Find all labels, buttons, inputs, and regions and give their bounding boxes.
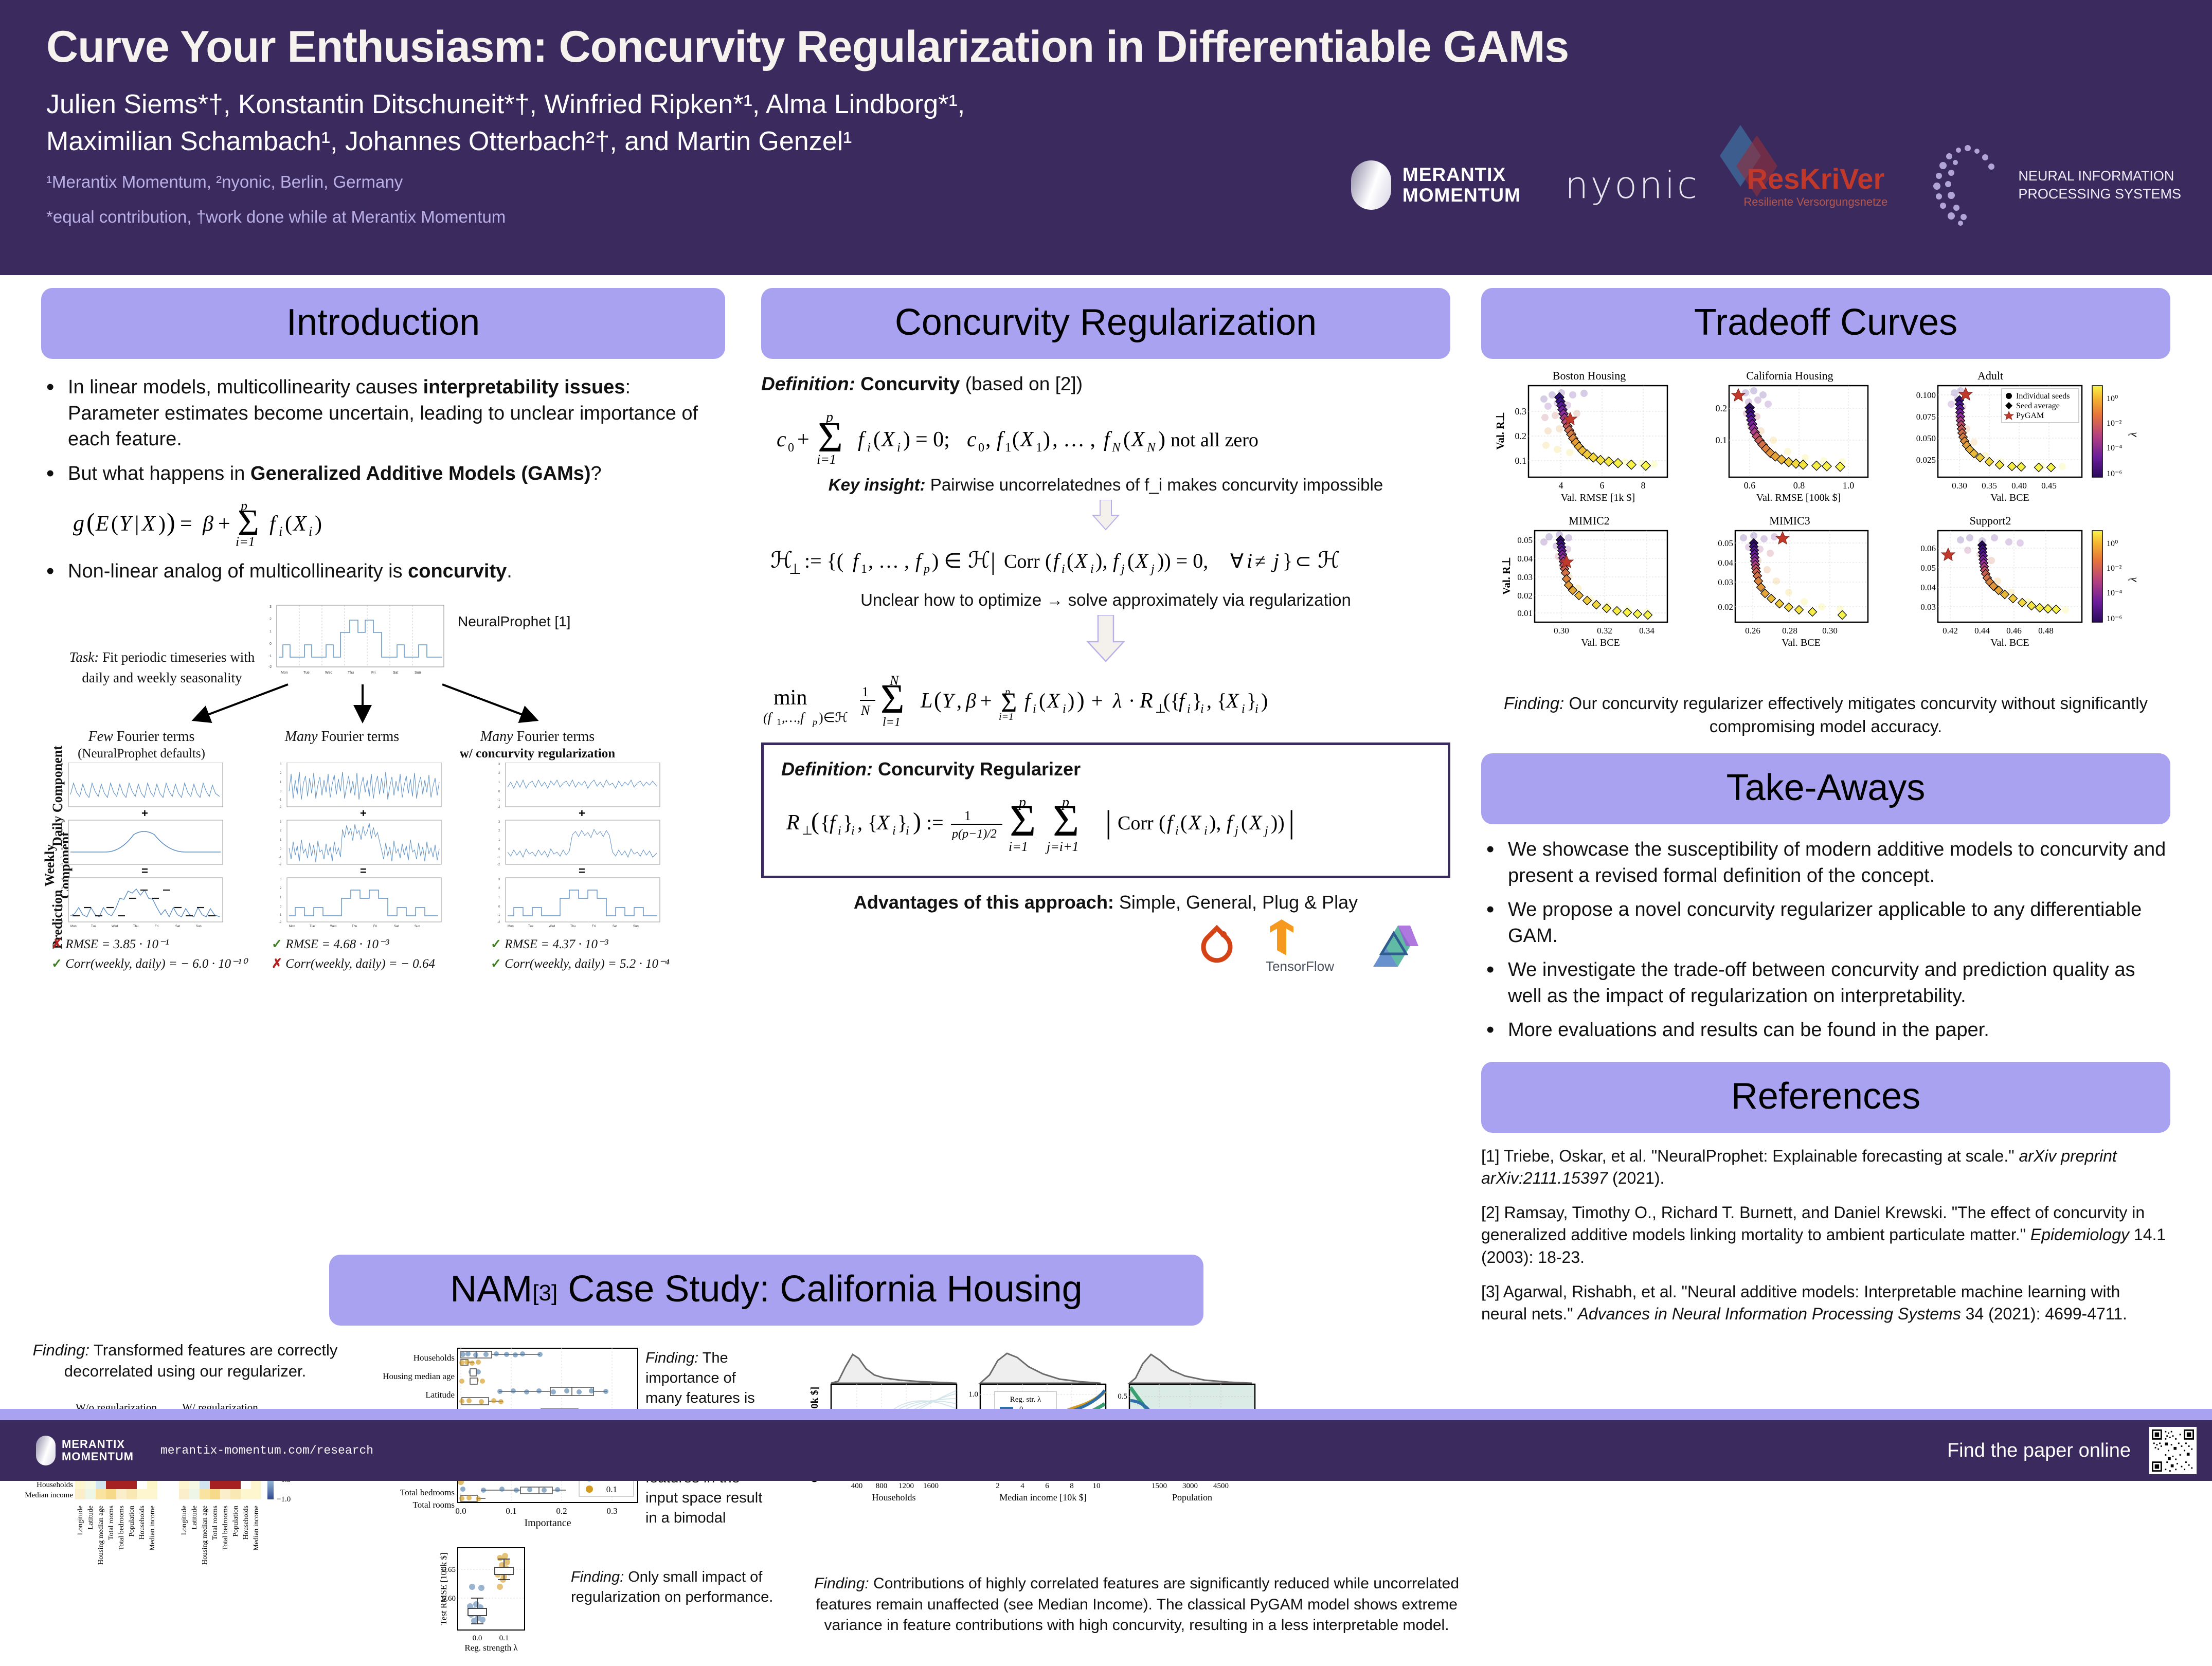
svg-text:X: X <box>880 428 896 451</box>
svg-text:1: 1 <box>862 684 869 699</box>
svg-text:3: 3 <box>61 763 63 766</box>
check-icon: ✓ <box>491 937 501 951</box>
svg-text:Housing median age: Housing median age <box>201 1506 209 1565</box>
chart-mimic3: MIMIC3 <box>1718 514 1868 648</box>
svg-text:800: 800 <box>876 1482 888 1490</box>
svg-text:X: X <box>1046 689 1060 712</box>
svg-text:=: = <box>579 864 585 877</box>
nam-figures-svg: Finding: Transformed features are correc… <box>21 1337 1471 1666</box>
svg-text:3: 3 <box>61 878 63 881</box>
svg-text:(: ( <box>86 508 95 536</box>
svg-text:i: i <box>1175 824 1179 838</box>
footer-url-link[interactable]: merantix-momentum.com/research <box>160 1444 373 1457</box>
authors-line2-text: Maximilian Schambach¹, Johannes Otterbac… <box>46 126 852 156</box>
svg-text:0.01: 0.01 <box>1517 608 1533 618</box>
svg-text:, … ,: , … , <box>1052 428 1095 451</box>
nyonic-logo: nyonic <box>1565 164 1700 207</box>
svg-text:2: 2 <box>61 887 63 890</box>
svg-text:0.5: 0.5 <box>1118 1392 1127 1401</box>
check-icon: ✓ <box>491 957 501 971</box>
svg-text:Sat: Sat <box>394 925 399 928</box>
svg-text:0.28: 0.28 <box>1782 626 1797 636</box>
svg-text:3: 3 <box>280 878 282 881</box>
svg-text:ℋ: ℋ <box>1318 548 1340 573</box>
svg-text:i: i <box>892 824 896 838</box>
svg-text:f: f <box>997 428 1005 451</box>
svg-text:(: ( <box>1241 811 1248 834</box>
svg-text:Wed: Wed <box>112 925 118 928</box>
svg-text:Val. BCE: Val. BCE <box>1990 637 2029 648</box>
svg-text:i: i <box>309 524 312 539</box>
svg-text:p: p <box>825 409 833 425</box>
svg-text:+: + <box>218 512 230 536</box>
svg-text:Sat: Sat <box>175 925 180 928</box>
svg-text:6: 6 <box>1600 480 1605 491</box>
svg-text:0: 0 <box>61 790 63 793</box>
unclear-optimize-note: Unclear how to optimize → solve approxim… <box>761 590 1450 610</box>
svg-text::=: := <box>926 811 944 834</box>
svg-text:-1: -1 <box>497 856 500 859</box>
svg-text:0.34: 0.34 <box>1639 626 1654 636</box>
svg-text:): ) <box>913 808 921 835</box>
svg-text:⊂: ⊂ <box>1295 551 1311 572</box>
flow-arrow-down-2 <box>1083 615 1129 662</box>
svg-text:i: i <box>1033 702 1036 716</box>
svg-text:Corr: Corr <box>1118 812 1154 834</box>
objective-equation: min (f 1 ,…,f p )∈ℋ 1 N Σ N l=1 L ( Y , <box>761 672 1450 732</box>
svg-text:1: 1 <box>498 839 500 842</box>
svg-text:i=1: i=1 <box>1009 839 1028 854</box>
svg-text:f: f <box>1167 811 1175 834</box>
svg-text:-2: -2 <box>60 921 63 924</box>
section-title-nam: NAM[3] Case Study: California Housing <box>329 1255 1203 1326</box>
svg-text:(: ( <box>1067 549 1073 572</box>
neurips-line2: PROCESSING SYSTEMS <box>2018 185 2181 203</box>
poster-body: Introduction In linear models, multicoll… <box>0 288 2212 1399</box>
svg-text:f: f <box>830 811 838 834</box>
svg-text:California Housing: California Housing <box>1746 370 1833 382</box>
hperp-equation: ℋ ⊥ := {( f 1 , … , f p ) ∈ ℋ | Corr ( f… <box>761 540 1450 581</box>
svg-text:0.100: 0.100 <box>1916 390 1936 400</box>
svg-text:-1: -1 <box>497 914 500 917</box>
bullet-pre: But what happens in <box>68 463 250 484</box>
nam-case-study-body: Finding: Transformed features are correc… <box>21 1337 1471 1666</box>
svg-text:X: X <box>876 811 890 834</box>
svg-text:1: 1 <box>280 839 282 842</box>
svg-text:0: 0 <box>61 848 63 851</box>
svg-text:2: 2 <box>996 1482 1000 1490</box>
neurips-dots-icon <box>1932 144 2009 226</box>
svg-text:0.30: 0.30 <box>1952 481 1967 491</box>
column-results: Tradeoff Curves <box>1481 288 2170 1325</box>
svg-text:): ) <box>1077 687 1085 713</box>
svg-text:Sun: Sun <box>633 925 639 928</box>
svg-text:0.02: 0.02 <box>1517 591 1533 601</box>
svg-text::= {(: := {( <box>804 549 843 572</box>
gam-equation: g ( E ( Y | X ) ) = β + Σ <box>68 494 725 550</box>
svg-text:0.1: 0.1 <box>499 1634 509 1642</box>
svg-text:β: β <box>965 689 976 712</box>
svg-text:i=1: i=1 <box>236 534 255 549</box>
merantix-mark-icon <box>1351 160 1391 210</box>
svg-text:8: 8 <box>1641 480 1646 491</box>
merantix-momentum-logo: MERANTIX MOMENTUM <box>1351 160 1521 210</box>
svg-text:0.2: 0.2 <box>556 1506 567 1516</box>
svg-text:Val. RMSE [100k $]: Val. RMSE [100k $] <box>1756 492 1841 503</box>
svg-text:N: N <box>889 673 900 688</box>
tensorflow-logo-group: TensorFlow <box>1266 918 1334 974</box>
svg-text:i: i <box>1063 702 1066 716</box>
svg-text:+: + <box>1091 689 1103 712</box>
svg-text:Sun: Sun <box>196 925 202 928</box>
svg-text:⊥: ⊥ <box>789 562 801 577</box>
svg-text:2: 2 <box>269 618 272 621</box>
nam-title-ref: [3] <box>532 1280 558 1306</box>
nam-case-study-header: NAM[3] Case Study: California Housing <box>329 1255 1203 1326</box>
svg-text:0.050: 0.050 <box>1916 433 1936 443</box>
column-introduction: Introduction In linear models, multicoll… <box>41 288 725 963</box>
poster-header: Curve Your Enthusiasm: Concurvity Regula… <box>0 0 2212 275</box>
jax-icon <box>1363 923 1419 974</box>
svg-text:1: 1 <box>1036 441 1042 455</box>
svg-text:0.8: 0.8 <box>1793 480 1805 491</box>
regularizer-definition-box: Definition: Concurvity Regularizer R ⊥ (… <box>761 743 1450 878</box>
svg-text:0: 0 <box>498 848 500 851</box>
svg-text:0.04: 0.04 <box>1718 558 1733 568</box>
svg-text:PyGAM: PyGAM <box>2016 411 2044 420</box>
svg-text:10⁻⁶: 10⁻⁶ <box>2107 614 2122 623</box>
svg-text:Households: Households <box>242 1506 250 1540</box>
svg-text:3: 3 <box>280 763 282 766</box>
regularizer-equation: R ⊥ ( { f i } i , { X i } i ) := <box>781 785 1430 862</box>
svg-text:): ) <box>158 512 166 536</box>
svg-text:1500: 1500 <box>1152 1482 1167 1490</box>
section-title-references: References <box>1481 1062 2170 1133</box>
svg-text:Population: Population <box>128 1506 136 1537</box>
svg-text:N: N <box>860 703 871 718</box>
bullet-bold: concurvity <box>408 560 507 582</box>
svg-text:1200: 1200 <box>898 1482 914 1490</box>
svg-text:0.2: 0.2 <box>1515 431 1527 441</box>
section-title-tradeoff: Tradeoff Curves <box>1481 288 2170 359</box>
cross-icon: ✗ <box>272 957 282 971</box>
svg-text:-1: -1 <box>279 799 282 802</box>
tradeoff-chart-grid: Boston Housing <box>1481 370 2170 689</box>
svg-text:Reg. str. λ: Reg. str. λ <box>1010 1396 1041 1404</box>
svg-text:-1: -1 <box>268 655 272 658</box>
footer-logo-line2: MOMENTUM <box>62 1451 134 1463</box>
svg-text:0.48: 0.48 <box>2038 626 2054 636</box>
svg-text:2: 2 <box>61 772 63 775</box>
svg-text:Importance: Importance <box>524 1517 571 1529</box>
finding-tradeoff-text: Our concurvity regularizer effectively m… <box>1569 694 2148 736</box>
svg-text:0: 0 <box>280 790 282 793</box>
svg-text:Tue: Tue <box>528 925 534 928</box>
svg-text:3000: 3000 <box>1182 1482 1198 1490</box>
authors-line1-text: Julien Siems*†, Konstantin Ditschuneit*†… <box>46 89 965 119</box>
reskriver-tagline: Resiliente Versorgungsnetze <box>1743 195 1887 209</box>
svg-text:1.0: 1.0 <box>968 1390 978 1399</box>
svg-text:Sat: Sat <box>393 671 399 675</box>
svg-text:Fri: Fri <box>371 671 376 675</box>
svg-text:0.30: 0.30 <box>1822 626 1838 636</box>
metric-rmse-col2: ✓ RMSE = 4.68 · 10⁻³ <box>272 936 389 952</box>
svg-text:2: 2 <box>498 887 500 890</box>
section-title-introduction: Introduction <box>41 288 725 359</box>
reskriver-wordmark: ResKriVer <box>1743 162 1887 195</box>
svg-text:Thu: Thu <box>352 925 357 928</box>
svg-text:p: p <box>812 717 817 727</box>
svg-text:Test RMSE [100k $]: Test RMSE [100k $] <box>439 1553 448 1625</box>
svg-text:Households: Households <box>413 1353 455 1363</box>
svg-text:0.1: 0.1 <box>506 1506 516 1516</box>
svg-text:): ) <box>1261 689 1268 712</box>
svg-text:2: 2 <box>61 829 63 832</box>
svg-text:i: i <box>279 524 282 539</box>
neurips-wordmark: NEURAL INFORMATION PROCESSING SYSTEMS <box>2018 167 2181 203</box>
reference-item-2: [2] Ramsay, Timothy O., Richard T. Burne… <box>1481 1202 2170 1269</box>
svg-text:8: 8 <box>1070 1482 1074 1490</box>
svg-text:): ) <box>903 428 910 451</box>
svg-text:i: i <box>1255 702 1258 716</box>
svg-text:),: ), <box>1209 811 1221 834</box>
svg-text:min: min <box>774 686 807 710</box>
svg-text:Total rooms: Total rooms <box>211 1506 219 1540</box>
svg-text:0.0: 0.0 <box>473 1634 482 1642</box>
svg-text:Total rooms: Total rooms <box>413 1500 455 1510</box>
svg-text:(: ( <box>285 512 292 536</box>
svg-text:(: ( <box>1180 811 1187 834</box>
svg-text:Adult: Adult <box>1977 370 2003 382</box>
svg-text:1: 1 <box>777 717 781 727</box>
svg-text:Fri: Fri <box>592 925 596 928</box>
svg-text:0.35: 0.35 <box>1982 481 1997 491</box>
svg-text:1: 1 <box>861 563 867 576</box>
svg-text:Thu: Thu <box>348 671 354 675</box>
bullet-post: . <box>507 560 512 582</box>
source-timeseries-chart: 321 0-1-2 MonTueWed ThuFriSatSun <box>267 603 447 680</box>
svg-text:10⁰: 10⁰ <box>2107 539 2118 548</box>
svg-text:-1: -1 <box>279 856 282 859</box>
svg-text:X: X <box>292 512 308 536</box>
introduction-bullet-list: In linear models, multicollinearity caus… <box>41 374 725 585</box>
svg-text:3: 3 <box>280 821 282 824</box>
svg-text:|: | <box>1288 805 1294 840</box>
svg-text:Val. BCE: Val. BCE <box>1990 492 2029 503</box>
svg-text:=: = <box>141 864 148 877</box>
list-item: We propose a novel concurvity regularize… <box>1481 897 2170 949</box>
svg-text:(: ( <box>111 512 118 536</box>
svg-text:),: ), <box>1095 549 1107 572</box>
svg-text:, {: , { <box>857 811 877 834</box>
chart-test-rmse: 0.650.60 0.00.1 Reg. strength λ Test RMS… <box>439 1548 525 1653</box>
neuralprophet-reference: NeuralProphet [1] <box>458 613 570 630</box>
svg-text:i: i <box>1242 702 1245 716</box>
svg-text:Val. R⊥: Val. R⊥ <box>1500 557 1513 595</box>
svg-text:Housing median age: Housing median age <box>97 1506 105 1565</box>
svg-text:λ: λ <box>2126 577 2139 583</box>
svg-text:Households: Households <box>138 1506 146 1540</box>
svg-text:Sun: Sun <box>415 925 420 928</box>
reference-item-1: [1] Triebe, Oskar, et al. "NeuralProphet… <box>1481 1145 2170 1189</box>
svg-text:0.1: 0.1 <box>1515 456 1527 466</box>
svg-text:Median income [10k $]: Median income [10k $] <box>999 1492 1086 1502</box>
footer-cta-group: Find the paper online <box>1947 1427 2212 1474</box>
svg-text:Thu: Thu <box>133 925 138 928</box>
svg-text:Total rooms: Total rooms <box>107 1506 115 1540</box>
neurips-logo: NEURAL INFORMATION PROCESSING SYSTEMS <box>1932 144 2181 226</box>
nyonic-wordmark: nyonic <box>1565 164 1700 207</box>
svg-text:0.6: 0.6 <box>1744 480 1756 491</box>
svg-text:(: ( <box>1127 549 1134 572</box>
svg-text:4: 4 <box>1559 480 1563 491</box>
svg-text:-2: -2 <box>497 806 500 809</box>
svg-text:i: i <box>1200 702 1204 716</box>
svg-text:f: f <box>1227 811 1235 834</box>
svg-text:)) = 0,: )) = 0, <box>1157 549 1208 572</box>
svg-text:i: i <box>1062 563 1065 576</box>
svg-text:Val. RMSE [1k $]: Val. RMSE [1k $] <box>1561 492 1635 503</box>
svg-text:f: f <box>1053 549 1062 572</box>
list-item: Non-linear analog of multicollinearity i… <box>41 558 725 585</box>
metric-rmse-col1: ✗ RMSE = 3.85 · 10⁻¹ <box>51 936 169 952</box>
svg-text:f: f <box>1179 689 1187 712</box>
qr-code[interactable] <box>2149 1427 2197 1474</box>
svg-text:0.2: 0.2 <box>1716 403 1728 413</box>
svg-text:): ) <box>1043 428 1050 451</box>
footer-merantix-wordmark: MERANTIX MOMENTUM <box>62 1438 134 1463</box>
svg-text:j: j <box>1233 824 1238 838</box>
footer-merantix-logo: MERANTIX MOMENTUM <box>36 1436 134 1465</box>
svg-text:p: p <box>923 563 930 576</box>
chart-support2: Support2 <box>1920 514 2139 648</box>
concurvity-definition-heading: Definition: Concurvity (based on [2]) <box>761 373 1450 395</box>
svg-text:0.0: 0.0 <box>455 1506 466 1516</box>
tensorflow-label: TensorFlow <box>1266 958 1334 974</box>
svg-text:Longitude: Longitude <box>77 1506 84 1535</box>
svg-text:i: i <box>1204 824 1208 838</box>
svg-text:≠: ≠ <box>1255 551 1266 572</box>
svg-text:0: 0 <box>61 906 63 909</box>
reskriver-logo: ResKriVer Resiliente Versorgungsnetze <box>1743 162 1887 209</box>
svg-text:0.42: 0.42 <box>1943 626 1958 636</box>
component-grid-charts: 3210-1-2 3210-1-2 3210-1-2 <box>59 763 712 932</box>
svg-text:10⁻⁶: 10⁻⁶ <box>2107 469 2122 478</box>
svg-text:j: j <box>1149 563 1155 576</box>
svg-text:(: ( <box>934 687 942 713</box>
svg-text:0.44: 0.44 <box>1974 626 1990 636</box>
svg-text:c: c <box>967 428 977 451</box>
svg-text:1: 1 <box>61 781 63 784</box>
svg-text:3: 3 <box>61 821 63 824</box>
footer-divider <box>0 1409 2212 1420</box>
svg-text:X: X <box>1225 689 1239 712</box>
chart-california-housing: California Housing <box>1716 370 1868 503</box>
list-item: More evaluations and results can be foun… <box>1481 1017 2170 1043</box>
svg-text:Total bedrooms: Total bedrooms <box>222 1506 229 1550</box>
svg-text:) ∈: ) ∈ <box>932 549 962 572</box>
svg-text:Fri: Fri <box>373 925 377 928</box>
section-title-concurvity: Concurvity Regularization <box>761 288 1450 359</box>
svg-text:3: 3 <box>498 763 500 766</box>
svg-text:Total bedrooms: Total bedrooms <box>118 1506 125 1550</box>
svg-text:,: , <box>985 428 991 451</box>
svg-text:0.05: 0.05 <box>1920 563 1936 573</box>
neurips-line1: NEURAL INFORMATION <box>2018 167 2181 185</box>
svg-text:({: ({ <box>1163 689 1180 712</box>
metric-corr-col2: ✗ Corr(weekly, daily) = − 0.64 <box>272 956 435 971</box>
svg-text:Mon: Mon <box>281 671 288 675</box>
svg-text:,…,f: ,…,f <box>782 710 806 725</box>
svg-text:i=1: i=1 <box>817 452 836 466</box>
list-item: We investigate the trade-off between con… <box>1481 957 2170 1009</box>
svg-text:Housing median age: Housing median age <box>383 1371 455 1381</box>
svg-text:1: 1 <box>61 896 63 899</box>
takeaways-list: We showcase the susceptibility of modern… <box>1481 837 2170 1043</box>
metric-corr-col1: ✓ Corr(weekly, daily) = − 6.0 · 10⁻¹⁰ <box>51 956 247 971</box>
svg-text:p: p <box>240 498 247 513</box>
svg-text:-2: -2 <box>279 863 282 866</box>
svg-text:Y: Y <box>942 689 956 712</box>
svg-text:): ) <box>167 508 175 536</box>
header-logo-strip: MERANTIX MOMENTUM nyonic ResKriVer Resil… <box>1351 144 2181 226</box>
figure-column-header-1: Few Fourier terms (NeuralProphet default… <box>57 728 226 762</box>
svg-text:0.05: 0.05 <box>1718 538 1733 548</box>
svg-text:j: j <box>1120 563 1125 576</box>
svg-text:Thu: Thu <box>570 925 576 928</box>
svg-text:−1.0: −1.0 <box>277 1495 291 1504</box>
list-item: In linear models, multicollinearity caus… <box>41 374 725 452</box>
svg-text:2: 2 <box>280 772 282 775</box>
svg-text:0.03: 0.03 <box>1920 602 1936 612</box>
nam-title-main: NAM <box>450 1269 532 1310</box>
svg-text:2: 2 <box>498 772 500 775</box>
merantix-wordmark: MERANTIX MOMENTUM <box>1402 165 1521 206</box>
svg-text:Latitude: Latitude <box>87 1506 95 1530</box>
svg-text:Wed: Wed <box>549 925 555 928</box>
svg-text:ℋ: ℋ <box>968 548 990 573</box>
column-concurvity: Concurvity Regularization Definition: Co… <box>761 288 1450 974</box>
svg-text:R: R <box>786 811 800 835</box>
page-title: Curve Your Enthusiasm: Concurvity Regula… <box>46 24 2166 70</box>
svg-text:{: { <box>820 811 830 834</box>
svg-text:3: 3 <box>498 821 500 824</box>
svg-text:(: ( <box>873 428 880 451</box>
bullet-pre: In linear models, multicollinearity caus… <box>68 376 423 398</box>
list-item: We showcase the susceptibility of modern… <box>1481 837 2170 889</box>
svg-text:0.06: 0.06 <box>1920 544 1936 553</box>
svg-text:1: 1 <box>269 630 272 633</box>
svg-text:4: 4 <box>1020 1482 1024 1490</box>
svg-text:Tue: Tue <box>91 925 97 928</box>
svg-text:MIMIC3: MIMIC3 <box>1769 514 1810 527</box>
merantix-line1: MERANTIX <box>1402 165 1521 185</box>
svg-text:-2: -2 <box>60 863 63 866</box>
svg-text:10: 10 <box>1093 1482 1101 1490</box>
finding-tradeoff: Finding: Finding: Our concurvity regular… <box>1481 692 2170 738</box>
svg-text:}: } <box>1283 549 1292 572</box>
bullet-post: ? <box>591 463 602 484</box>
svg-text:, {: , { <box>1207 689 1227 712</box>
svg-text:E: E <box>95 512 109 536</box>
svg-text:0.40: 0.40 <box>2011 481 2027 491</box>
figure-arrows <box>103 680 669 727</box>
tradeoff-charts-svg: Boston Housing <box>1481 370 2170 689</box>
svg-text:400: 400 <box>851 1482 863 1490</box>
svg-text:1: 1 <box>964 808 971 823</box>
section-title-takeaways: Take-Aways <box>1481 753 2170 824</box>
svg-text:i: i <box>1187 702 1191 716</box>
